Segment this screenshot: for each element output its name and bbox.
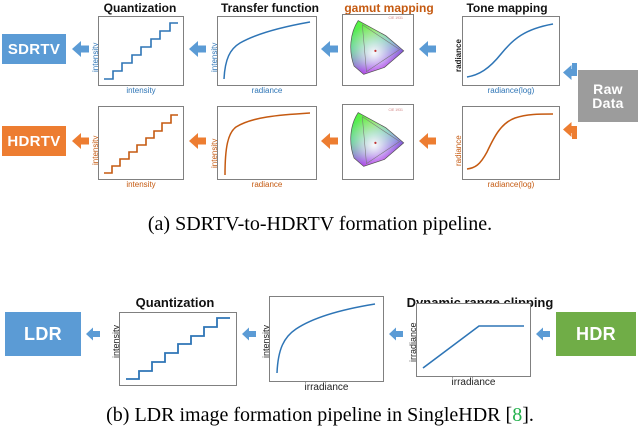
- xlabel-a-hdr-transfer-function: radiance: [217, 181, 317, 189]
- figure-root: SDRTV HDRTV Raw Data Quantization Transf…: [0, 0, 640, 421]
- title-a-sdr-quantization: Quantization: [90, 2, 190, 14]
- xlabel-a-sdr-transfer-function: radiance: [217, 87, 317, 95]
- endpoint-hdr: HDR: [556, 312, 636, 356]
- arrow-left-hdrtv: [69, 130, 91, 152]
- arrow-a-hdr-tf-to-quant: [186, 130, 208, 152]
- title-a-sdr-gamut-mapping: gamut mapping: [338, 2, 440, 14]
- caption-b-text: (b) LDR image formation pipeline in Sing…: [106, 404, 512, 426]
- endpoint-sdrtv-label: SDRTV: [8, 42, 60, 57]
- plot-a-hdr-quantization: [98, 106, 184, 180]
- plot-a-sdr-tone-mapping: [462, 16, 560, 86]
- xlabel-b-dynamic-range-clipping: irradiance: [416, 378, 531, 388]
- plot-a-sdr-transfer-function: [217, 16, 317, 86]
- plot-a-sdr-quantization: [98, 16, 184, 86]
- endpoint-hdr-label: HDR: [576, 325, 616, 343]
- caption-a: (a) SDRTV-to-HDRTV formation pipeline.: [0, 213, 640, 236]
- caption-b-text-end: ].: [522, 404, 534, 426]
- svg-text:CIE 1931: CIE 1931: [389, 16, 403, 20]
- endpoint-raw-data: Raw Data: [578, 70, 638, 122]
- arrow-raw-to-hdr-tone: [560, 120, 580, 142]
- endpoint-ldr: LDR: [5, 312, 81, 356]
- raw-data-line2: Data: [592, 96, 624, 110]
- arrow-a-sdr-tf-to-quant: [186, 38, 208, 60]
- plot-a-hdr-gamut-mapping: CIE 1931: [342, 104, 414, 180]
- plot-b-dynamic-range-clipping: [416, 303, 531, 377]
- arrow-b-clip-to-tf: [387, 325, 405, 343]
- arrow-a-sdr-gamut-to-tf: [318, 38, 340, 60]
- arrow-a-hdr-gamut-to-tf: [318, 130, 340, 152]
- plot-a-hdr-tone-mapping: [462, 106, 560, 180]
- svg-text:CIE 1931: CIE 1931: [389, 108, 403, 112]
- title-a-sdr-transfer-function: Transfer function: [210, 2, 330, 14]
- title-b-quantization: Quantization: [110, 296, 240, 309]
- xlabel-b-transfer-function: irradiance: [269, 383, 384, 393]
- arrow-raw-to-sdr-tone: [560, 60, 580, 82]
- xlabel-a-sdr-quantization: intensity: [98, 87, 184, 95]
- arrow-a-hdr-tone-to-gamut: [416, 130, 438, 152]
- arrow-a-sdr-tone-to-gamut: [416, 38, 438, 60]
- endpoint-hdrtv: HDRTV: [2, 126, 66, 156]
- plot-b-quantization: [119, 312, 237, 386]
- plot-b-transfer-function: [269, 296, 384, 382]
- arrow-b-quant-to-ldr: [84, 325, 102, 343]
- plot-a-sdr-gamut-mapping: CIE 1931: [342, 14, 414, 86]
- raw-data-line1: Raw: [593, 82, 623, 96]
- title-a-sdr-tone-mapping: Tone mapping: [452, 2, 562, 14]
- arrow-b-hdr-to-clip: [534, 325, 552, 343]
- endpoint-sdrtv: SDRTV: [2, 34, 66, 64]
- arrow-b-tf-to-quant: [240, 325, 258, 343]
- endpoint-ldr-label: LDR: [24, 325, 62, 343]
- arrow-left-sdrtv: [69, 38, 91, 60]
- xlabel-a-hdr-tone-mapping: radiance(log): [462, 181, 560, 189]
- endpoint-hdrtv-label: HDRTV: [7, 134, 60, 149]
- xlabel-a-hdr-quantization: intensity: [98, 181, 184, 189]
- caption-b: (b) LDR image formation pipeline in Sing…: [0, 404, 640, 427]
- xlabel-a-sdr-tone-mapping: radiance(log): [462, 87, 560, 95]
- caption-b-citation: 8: [512, 404, 522, 426]
- plot-a-hdr-transfer-function: [217, 106, 317, 180]
